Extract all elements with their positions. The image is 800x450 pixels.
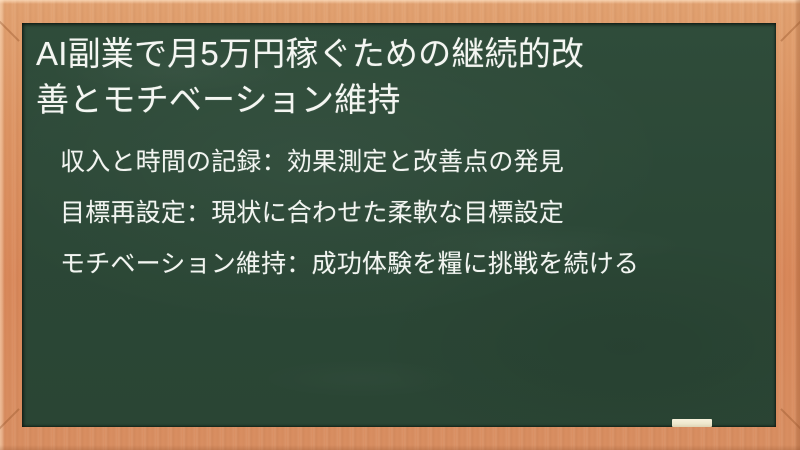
list-item: 収入と時間の記録：効果測定と改善点の発見 (60, 145, 746, 179)
frame-bevel-top (0, 0, 800, 4)
chalkboard-slide: AI副業で月5万円稼ぐための継続的改 善とモチベーション維持 収入と時間の記録：… (0, 0, 800, 450)
frame-bevel-left (0, 0, 5, 450)
list-item: モチベーション維持：成功体験を糧に挑戦を続ける (60, 247, 746, 281)
board-content: AI副業で月5万円稼ぐための継続的改 善とモチベーション維持 収入と時間の記録：… (22, 23, 776, 298)
slide-title-line-2: 善とモチベーション維持 (36, 81, 401, 118)
chalk-stick-icon (672, 419, 712, 427)
frame-bevel-right (794, 0, 800, 450)
chalkboard-surface: AI副業で月5万円稼ぐための継続的改 善とモチベーション維持 収入と時間の記録：… (22, 23, 776, 427)
frame-bevel-bottom (0, 445, 800, 450)
list-item: 目標再設定：現状に合わせた柔軟な目標設定 (60, 196, 746, 230)
slide-title: AI副業で月5万円稼ぐための継続的改 善とモチベーション維持 (34, 31, 746, 123)
slide-title-line-1: AI副業で月5万円稼ぐための継続的改 (36, 35, 584, 72)
bullet-list: 収入と時間の記録：効果測定と改善点の発見 目標再設定：現状に合わせた柔軟な目標設… (34, 145, 746, 281)
